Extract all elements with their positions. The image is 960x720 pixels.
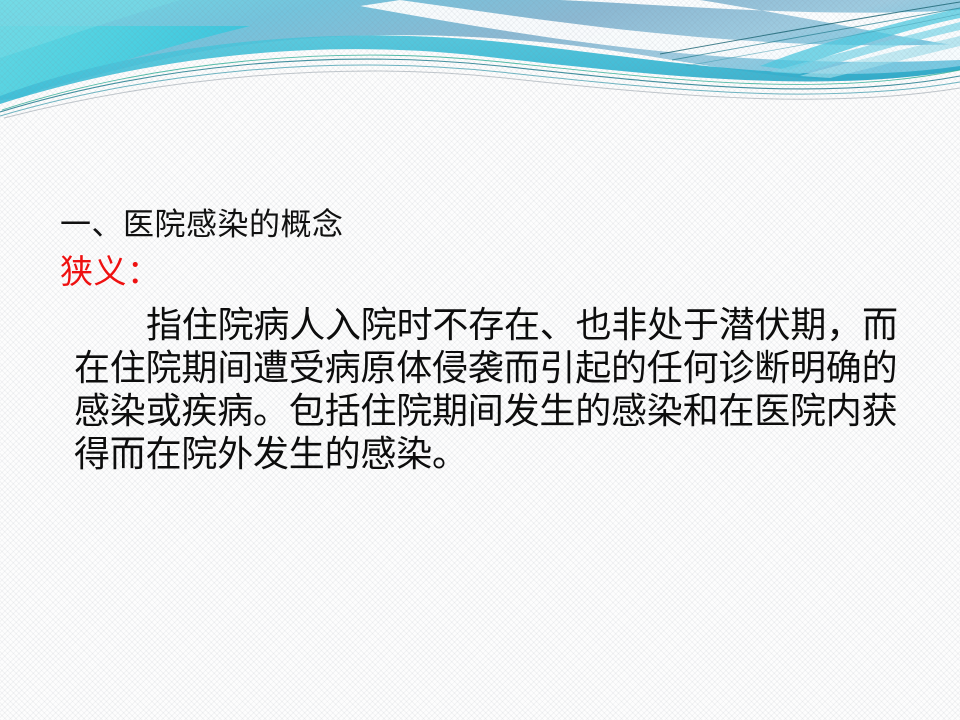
definition-label-narrow-sense: 狭义： xyxy=(60,254,161,291)
body-line-1: 指住院病人入院时不存在、也非处于潜伏期，而 xyxy=(74,304,906,347)
body-line-3: 感染或疾病。包括住院期间发生的感染和在医院内获 xyxy=(74,390,906,433)
body-line-4: 得而在院外发生的感染。 xyxy=(74,433,906,476)
definition-body: 指住院病人入院时不存在、也非处于潜伏期，而 在住院期间遭受病原体侵袭而引起的任何… xyxy=(74,304,906,476)
section-heading: 一、医院感染的概念 xyxy=(60,208,344,243)
body-line-2: 在住院期间遭受病原体侵袭而引起的任何诊断明确的 xyxy=(74,347,906,390)
slide-content: 一、医院感染的概念 狭义： 指住院病人入院时不存在、也非处于潜伏期，而 在住院期… xyxy=(0,0,960,720)
slide-canvas: 一、医院感染的概念 狭义： 指住院病人入院时不存在、也非处于潜伏期，而 在住院期… xyxy=(0,0,960,720)
